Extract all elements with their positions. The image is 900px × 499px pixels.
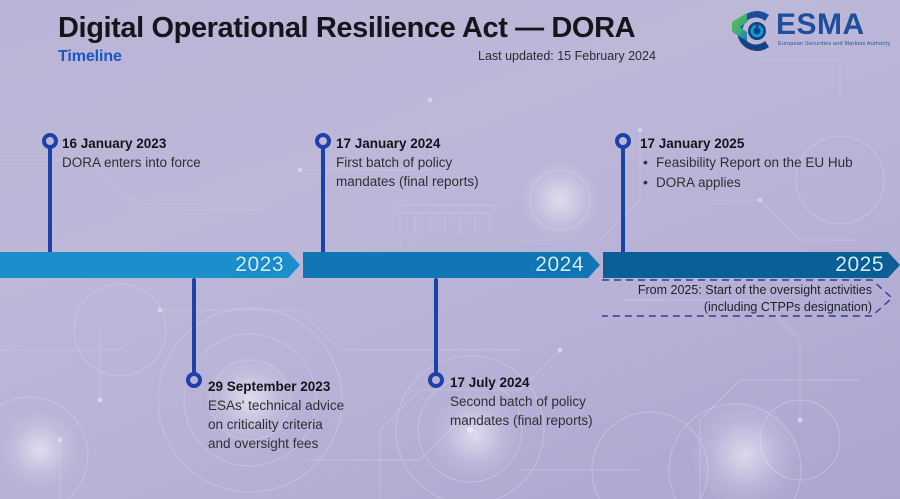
milestone-line: and oversight fees	[208, 434, 344, 453]
marker-ring-icon	[186, 372, 202, 388]
poster-header: Digital Operational Resilience Act — DOR…	[0, 0, 900, 86]
timeline-segment-2025: 2025	[603, 252, 900, 278]
milestone-line: mandates (final reports)	[450, 411, 593, 430]
callout-line-2: (including CTPPs designation)	[638, 299, 872, 316]
list-item: Feasibility Report on the EU Hub	[656, 153, 853, 173]
timeline-bar: 2023 2024 2025	[0, 252, 900, 278]
marker-ring-icon	[428, 372, 444, 388]
timeline-segment-2024: 2024	[303, 252, 600, 278]
milestone-2025-01-17: 17 January 2025 Feasibility Report on th…	[640, 135, 853, 193]
list-item: DORA applies	[656, 173, 853, 193]
milestone-date: 17 January 2025	[640, 135, 853, 153]
milestone-line: DORA enters into force	[62, 153, 201, 172]
esma-logo-mark-icon	[728, 8, 776, 54]
marker-milestone-2024-07-17	[428, 278, 444, 388]
marker-stem	[192, 278, 196, 376]
milestone-line: on criticality criteria	[208, 415, 344, 434]
callout-line-1: From 2025: Start of the oversight activi…	[638, 282, 872, 299]
marker-milestone-2023-01-16	[42, 133, 58, 255]
milestone-line: Second batch of policy	[450, 392, 593, 411]
dora-timeline-poster: Digital Operational Resilience Act — DOR…	[0, 0, 900, 499]
milestone-2023-01-16: 16 January 2023 DORA enters into force	[62, 135, 201, 172]
marker-milestone-2024-01-17	[315, 133, 331, 255]
timeline-year-label: 2025	[835, 253, 900, 277]
milestone-2024-07-17: 17 July 2024 Second batch of policy mand…	[450, 374, 593, 430]
timeline-year-label: 2023	[235, 253, 300, 277]
oversight-callout: From 2025: Start of the oversight activi…	[600, 278, 894, 318]
marker-stem	[321, 147, 325, 255]
milestone-2024-01-17: 17 January 2024 First batch of policy ma…	[336, 135, 479, 191]
page-subtitle: Timeline	[58, 48, 122, 66]
milestone-date: 29 September 2023	[208, 378, 344, 396]
last-updated-label: Last updated: 15 February 2024	[478, 49, 656, 63]
marker-stem	[434, 278, 438, 376]
milestone-date: 17 January 2024	[336, 135, 479, 153]
esma-logo: ESMA European Securities and Markets Aut…	[728, 8, 888, 56]
callout-text: From 2025: Start of the oversight activi…	[638, 282, 872, 316]
timeline-segment-2023: 2023	[0, 252, 300, 278]
esma-tagline: European Securities and Markets Authorit…	[778, 41, 890, 47]
marker-stem	[621, 147, 625, 255]
timeline-year-label: 2024	[535, 253, 600, 277]
milestone-line: ESAs' technical advice	[208, 396, 344, 415]
milestone-bullet-list: Feasibility Report on the EU Hub DORA ap…	[640, 153, 853, 193]
marker-milestone-2025-01-17	[615, 133, 631, 255]
milestone-line: mandates (final reports)	[336, 172, 479, 191]
esma-wordmark: ESMA	[776, 10, 865, 40]
marker-stem	[48, 147, 52, 255]
milestone-line: First batch of policy	[336, 153, 479, 172]
milestone-date: 17 July 2024	[450, 374, 593, 392]
marker-milestone-2023-09-29	[186, 278, 202, 388]
milestone-2023-09-29: 29 September 2023 ESAs' technical advice…	[208, 378, 344, 453]
milestone-date: 16 January 2023	[62, 135, 201, 153]
page-title: Digital Operational Resilience Act — DOR…	[58, 12, 635, 45]
